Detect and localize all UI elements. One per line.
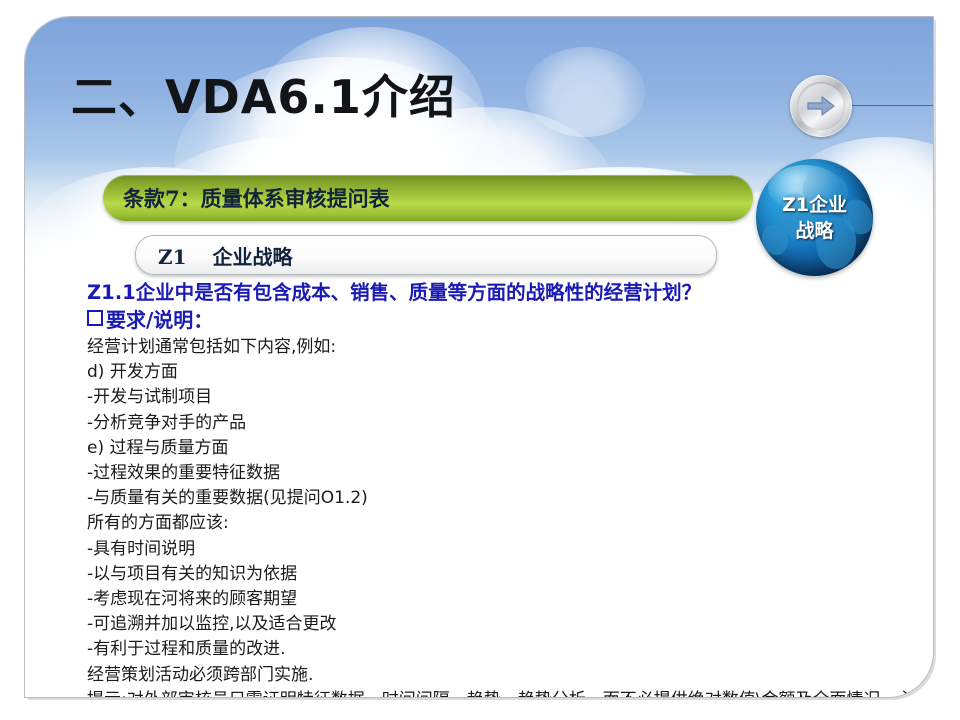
clause-bar: 条款7：质量体系审核提问表: [103, 175, 753, 221]
section-bar: Z1企业战略: [135, 235, 717, 275]
page-title: 二、VDA6.1介绍: [71, 61, 456, 127]
arrow-connector-line: [849, 105, 934, 106]
globe-label-line1: Z1企业: [782, 192, 847, 218]
body-line: 经营计划通常包括如下内容,例如:: [87, 335, 915, 360]
body-line: -以与项目有关的知识为依据: [87, 562, 915, 587]
body-line: -开发与试制项目: [87, 385, 915, 410]
next-slide-button[interactable]: [790, 75, 852, 137]
body-line: -与质量有关的重要数据(见提问O1.2): [87, 486, 915, 511]
body-line: -分析竞争对手的产品: [87, 411, 915, 436]
body-line: -考虑现在河将来的顾客期望: [87, 587, 915, 612]
cloud-shape: [525, 47, 645, 137]
body-line-list: 经营计划通常包括如下内容,例如:d) 开发方面-开发与试制项目-分析竞争对手的产…: [87, 335, 915, 688]
section-label: 企业战略: [213, 245, 293, 269]
requirement-heading: 要求/说明：: [87, 306, 915, 335]
body-line: 经营策划活动必须跨部门实施.: [87, 663, 915, 688]
arrow-right-icon: [797, 82, 845, 130]
section-bar-text: Z1企业战略: [158, 241, 293, 270]
body-line: d) 开发方面: [87, 360, 915, 385]
body-line: 所有的方面都应该:: [87, 511, 915, 536]
question-heading: Z1.1企业中是否有包含成本、销售、质量等方面的战略性的经营计划？: [87, 279, 915, 306]
section-code: Z1: [158, 245, 187, 269]
globe-badge[interactable]: Z1企业 战略: [756, 159, 873, 276]
globe-label-line2: 战略: [795, 218, 833, 244]
body-line: -可追溯并加以监控,以及适合更改: [87, 612, 915, 637]
globe-badge-label: Z1企业 战略: [756, 159, 873, 276]
body-line: -具有时间说明: [87, 537, 915, 562]
requirement-label: 要求/说明：: [106, 308, 213, 332]
checkbox-icon: [87, 310, 103, 326]
body-line: e) 过程与质量方面: [87, 436, 915, 461]
note-text: 提示:对外部审核员只需证明特征数据、时间间隔、趋势、趋势分析、而不必提供绝对数值…: [87, 688, 915, 698]
body-line: -过程效果的重要特征数据: [87, 461, 915, 486]
body-line: -有利于过程和质量的改进.: [87, 637, 915, 662]
slide-body: Z1.1企业中是否有包含成本、销售、质量等方面的战略性的经营计划？ 要求/说明：…: [87, 279, 915, 698]
clause-bar-label: 条款7：质量体系审核提问表: [123, 183, 390, 213]
slide-canvas: 二、VDA6.1介绍 Z1企业 战略 条款7：质量体系审核提问表 Z1企业战略 …: [24, 16, 934, 698]
